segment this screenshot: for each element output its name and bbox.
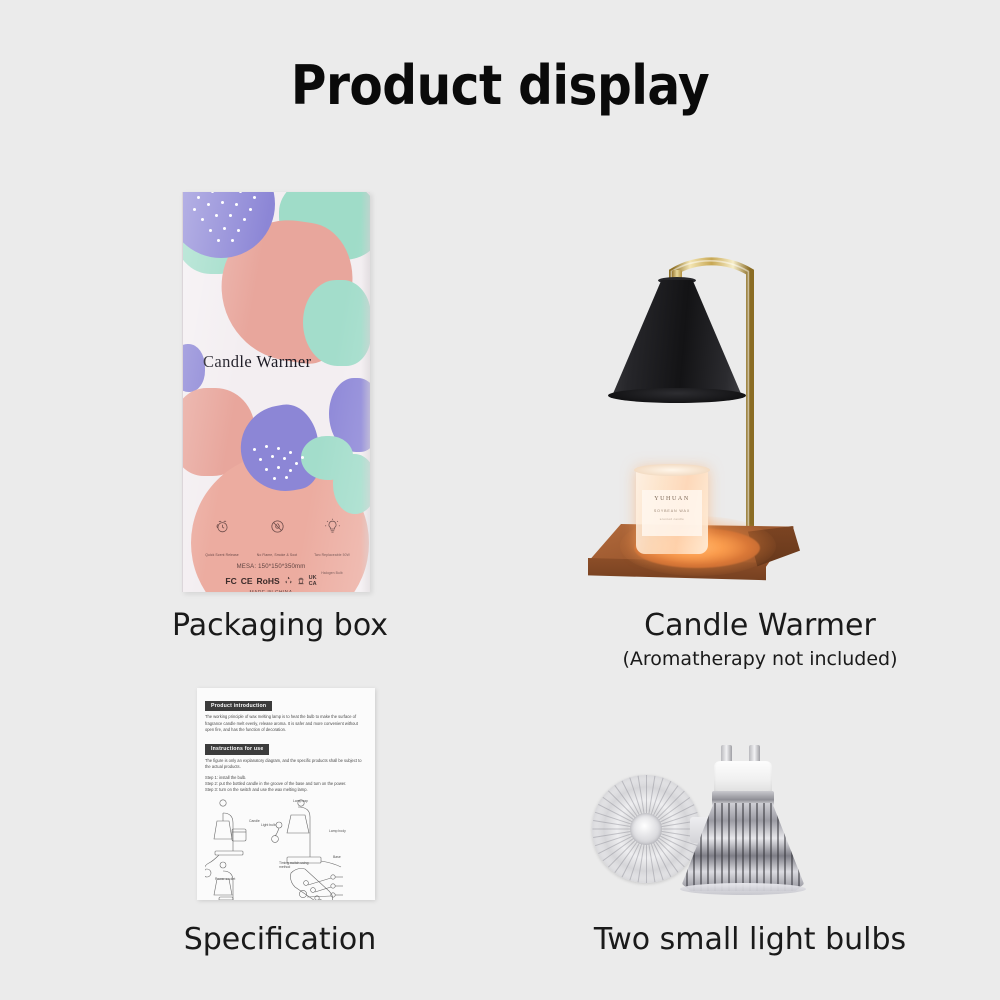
spec-heading-instructions: Instructions for use — [205, 744, 269, 754]
halogen-bulb-icon — [307, 518, 357, 540]
cert-recycle-icon — [284, 576, 293, 587]
candle-label-line2: SOYBEAN WAX — [642, 509, 702, 513]
diagram-label-candle: Candle — [249, 819, 260, 823]
light-bulbs-image — [590, 745, 830, 895]
box-certification-marks: FC CE RoHS UKCA — [183, 576, 359, 587]
cert-ce-icon: CE — [241, 577, 253, 586]
spec-body-instructions-intro: The figure is only an explanatory diagra… — [205, 758, 367, 771]
diagram-label-timing-switch: Timing switch using method — [279, 861, 319, 870]
bulb-reflector-flutes — [682, 803, 804, 891]
gu10-ceramic-cap — [714, 761, 772, 795]
box-brand-title: Candle Warmer — [203, 352, 312, 372]
page-title: Product display — [0, 54, 1000, 117]
no-flame-icon — [252, 518, 302, 540]
candle-label: YUHUAN SOYBEAN WAX scented candle — [642, 490, 702, 536]
box-origin-text: MADE IN CHINA — [183, 590, 359, 592]
caption-packaging-box: Packaging box — [80, 608, 480, 643]
specification-sheet-image: Product introduction The working princip… — [197, 688, 375, 900]
box-dot-pattern — [245, 442, 315, 488]
caption-candle-warmer-note: (Aromatherapy not included) — [560, 648, 960, 670]
spec-body-product-introduction: The working principle of wax melting lam… — [205, 714, 367, 733]
product-display-page: Product display Candle Warmer — [0, 0, 1000, 1000]
caption-candle-warmer: Candle Warmer — [560, 608, 960, 643]
candle-jar-rim — [634, 464, 710, 476]
bulb-angled-view — [676, 745, 804, 893]
box-blob-mint — [303, 280, 370, 366]
bulb-glass-rim — [680, 883, 806, 895]
box-feature-label: No Flame, Smoke & Soot — [257, 553, 297, 557]
bulb-capsule-center — [630, 813, 662, 845]
cert-fc-icon: FC — [225, 577, 236, 586]
diagram-label-light-bulb: Light bulb — [261, 823, 276, 827]
box-dimensions: MESA: 150*150*350mm — [183, 564, 359, 570]
box-right-edge — [361, 192, 370, 592]
box-feature-label: Quick Scent Release — [205, 553, 239, 557]
cert-ukca-icon: UKCA — [309, 576, 317, 587]
caption-light-bulbs: Two small light bulbs — [520, 922, 980, 957]
diagram-label-lamp-cap: Lamp cap — [293, 799, 308, 803]
caption-specification: Specification — [80, 922, 480, 957]
packaging-box-image: Candle Warmer Quick Scent Release — [182, 192, 370, 592]
spec-line-diagrams — [205, 799, 367, 900]
cert-weee-icon — [297, 576, 305, 587]
spec-step-3: Step 3: turn on the switch and use the w… — [205, 787, 367, 793]
diagram-label-lamp-body: Lamp body — [329, 829, 346, 833]
box-dot-pattern — [182, 192, 275, 258]
diagram-label-base: Base — [333, 855, 341, 859]
lamp-shade-rim — [608, 388, 746, 403]
candle-warmer-image: YUHUAN SOYBEAN WAX scented candle — [560, 180, 860, 600]
lamp-shade-cone — [612, 280, 742, 396]
lamp-shade — [612, 280, 742, 396]
spec-diagram-area: Candle Power socket Lamp cap Light bulb … — [205, 799, 367, 900]
candle-label-line3: scented candle — [642, 518, 702, 521]
diagram-label-power-socket: Power socket — [215, 877, 235, 881]
box-blob-purple — [182, 344, 205, 392]
scent-release-icon — [197, 518, 247, 540]
candle-brand: YUHUAN — [642, 496, 702, 502]
spec-heading-product-introduction: Product introduction — [205, 701, 272, 711]
cert-rohs-icon: RoHS — [257, 577, 280, 586]
